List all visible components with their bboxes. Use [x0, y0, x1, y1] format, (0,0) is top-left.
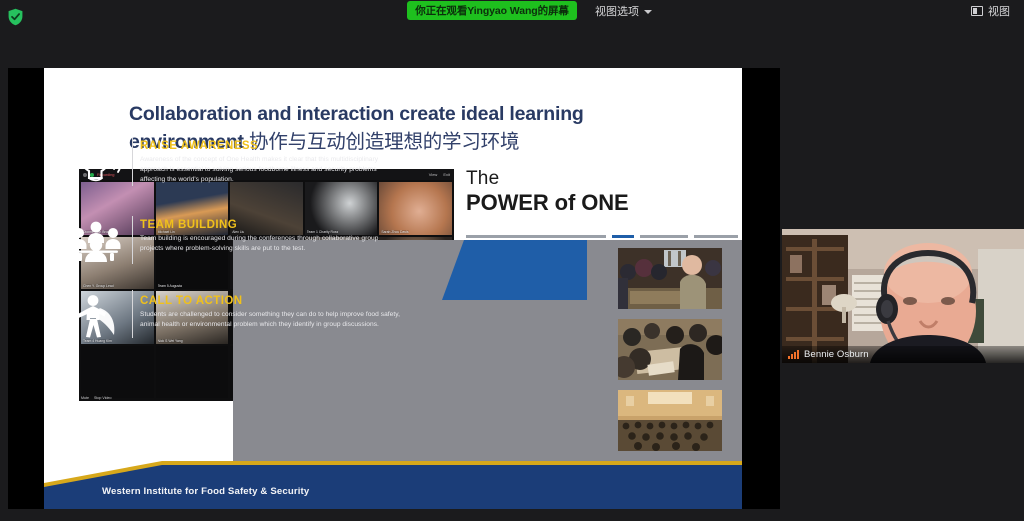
embedded-gallery-footer: Mute Stop Video [81, 396, 112, 400]
embedded-exit-button: Exit [443, 172, 450, 177]
view-toggle-button[interactable]: 视图 [971, 3, 1010, 19]
gallery-tile [81, 346, 154, 399]
presentation-slide: Collaboration and interaction create ide… [44, 68, 742, 509]
section-heading: CALL TO ACTION [140, 295, 402, 307]
power-line-1: The [466, 168, 629, 190]
gallery-tile-name: Nick S Wei Yang [158, 339, 183, 343]
embedded-stop-video-button: Stop Video [94, 396, 112, 400]
participant-video-tile[interactable]: Bennie Osburn [782, 229, 1024, 363]
screen-share-banner-text: 你正在观看Yingyao Wang的屏幕 [415, 3, 569, 18]
section-body: Awareness of the concept of One Health m… [140, 155, 402, 185]
audio-level-icon [788, 350, 799, 359]
superhero-icon [66, 292, 126, 344]
section-body: Team building is encouraged during the c… [140, 234, 402, 254]
zoom-top-bar: 你正在观看Yingyao Wang的屏幕 视图选项 视图 [0, 0, 1024, 32]
gallery-tile-name: Team 5 Augusta [158, 284, 182, 288]
participant-name-label: Bennie Osburn [804, 349, 869, 360]
photo-workshop-table [618, 248, 722, 309]
section-heading: RAISE AWARENESS [140, 140, 402, 152]
section-body: Students are challenged to consider some… [140, 310, 402, 330]
section-heading: TEAM BUILDING [140, 219, 402, 231]
photo-group-discussion [618, 319, 722, 380]
section-divider [132, 216, 133, 264]
footer-institution-name: Western Institute for Food Safety & Secu… [102, 486, 309, 497]
section-divider [132, 138, 133, 186]
blue-accent-wedge [442, 240, 587, 300]
shared-screen-region[interactable]: Collaboration and interaction create ide… [8, 68, 780, 509]
view-toggle-label: 视图 [988, 3, 1010, 19]
photo-lecture-hall [618, 390, 722, 451]
group-meeting-icon [66, 218, 126, 270]
slide-footer-band: Western Institute for Food Safety & Secu… [44, 461, 742, 509]
embedded-gallery-right-controls: View Exit [429, 172, 450, 177]
screen-share-banner: 你正在观看Yingyao Wang的屏幕 [407, 1, 577, 20]
section-call-to-action: CALL TO ACTION Students are challenged t… [140, 295, 402, 330]
speaking-head-icon [66, 141, 126, 193]
participant-video-feed [782, 229, 1024, 363]
gallery-tile [156, 346, 229, 399]
section-divider [132, 290, 133, 338]
section-raise-awareness: RAISE AWARENESS Awareness of the concept… [140, 140, 402, 185]
layout-view-icon [971, 6, 983, 16]
chevron-down-icon [644, 10, 652, 14]
power-line-2: POWER of ONE [466, 190, 629, 216]
participant-name-strip: Bennie Osburn [782, 346, 1024, 363]
section-team-building: TEAM BUILDING Team building is encourage… [140, 219, 402, 254]
embedded-view-button: View [429, 172, 438, 177]
power-of-one-block: The POWER of ONE [466, 168, 629, 216]
shield-check-icon[interactable] [7, 8, 24, 26]
gallery-tile-name: Chen Y. Group Lead [83, 284, 114, 288]
view-options-button[interactable]: 视图选项 [592, 2, 655, 19]
view-options-label: 视图选项 [595, 3, 639, 19]
power-divider-rule [466, 235, 738, 238]
embedded-mute-button: Mute [81, 396, 89, 400]
